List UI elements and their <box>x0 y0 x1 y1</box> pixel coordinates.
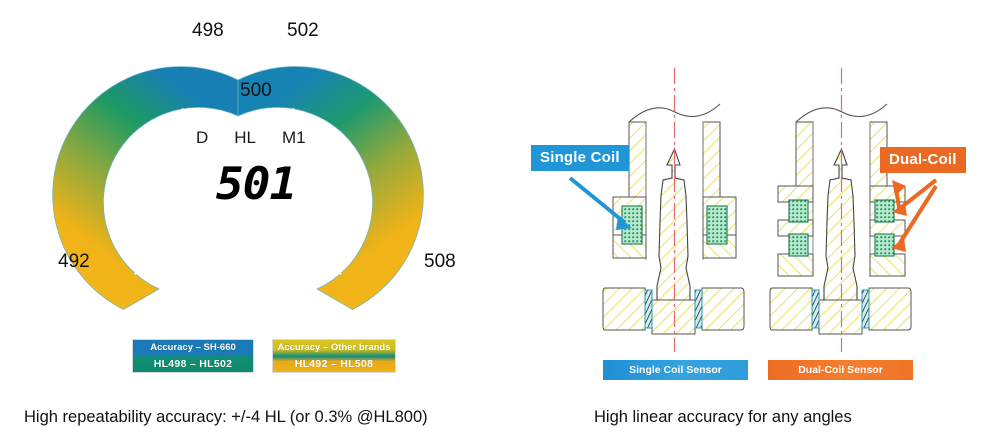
dual-coil-lower-left <box>789 234 808 256</box>
gauge-unit-hl: HL <box>234 128 256 148</box>
gauge-unit-m1: M1 <box>282 128 306 148</box>
gauge-tick-label-500: 500 <box>240 80 272 102</box>
caption-dual-coil-sensor: Dual-Coil Sensor <box>768 360 913 380</box>
gauge-tick-label-498: 498 <box>192 20 224 42</box>
gauge-value-display: 501 <box>193 163 319 207</box>
legend-other-brands: Accuracy – Other brands HL492 – HL508 <box>272 339 396 373</box>
footer-caption-left: High repeatability accuracy: +/-4 HL (or… <box>24 408 428 427</box>
sensor-cross-section-graphic <box>500 0 992 400</box>
footer-caption-right: High linear accuracy for any angles <box>594 408 852 427</box>
gauge-unit-d: D <box>196 128 208 148</box>
dual-coil-lower-right <box>875 234 894 256</box>
legend-sh660: Accuracy – SH-660 HL498 – HL502 <box>132 339 254 373</box>
gauge-tick-label-502: 502 <box>287 20 319 42</box>
dual-coil-assembly <box>770 68 911 352</box>
sensor-diagram-panel: Single Coil Dual-Coil Single Coil Sensor… <box>500 0 992 400</box>
caption-single-coil-sensor: Single Coil Sensor <box>603 360 748 380</box>
gauge-panel: 492 498 500 502 508 D HL M1 501 Accuracy… <box>0 0 500 400</box>
dual-coil-upper-right <box>875 200 894 222</box>
dual-coil-upper-left <box>789 200 808 222</box>
legend-other-line2: HL492 – HL508 <box>273 356 395 372</box>
legend-sh660-line1: Accuracy – SH-660 <box>133 340 253 356</box>
callout-single-coil: Single Coil <box>531 145 629 171</box>
legend-sh660-line2: HL498 – HL502 <box>133 356 253 372</box>
slide-canvas: 492 498 500 502 508 D HL M1 501 Accuracy… <box>0 0 992 447</box>
single-coil-assembly <box>603 68 744 352</box>
single-coil-right <box>707 206 727 244</box>
gauge-tick-label-492: 492 <box>58 251 90 273</box>
legend-other-line1: Accuracy – Other brands <box>273 340 395 356</box>
gauge-tick-label-508: 508 <box>424 251 456 273</box>
callout-dual-coil: Dual-Coil <box>880 147 966 173</box>
gauge-unit-row: D HL M1 <box>196 128 306 148</box>
